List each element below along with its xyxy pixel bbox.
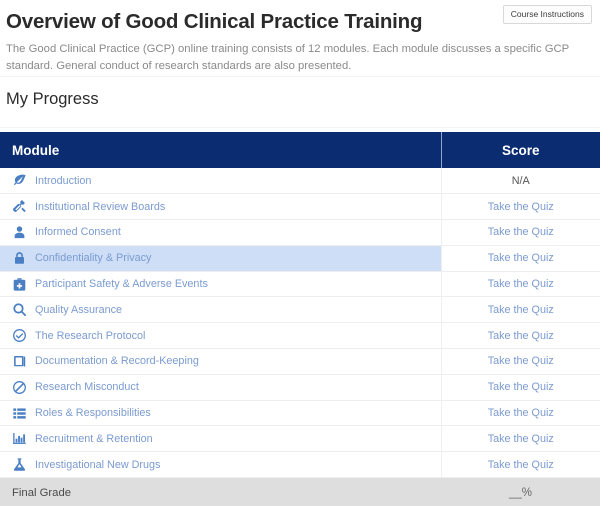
take-the-quiz-link[interactable]: Take the Quiz: [488, 355, 554, 367]
take-the-quiz-link[interactable]: Take the Quiz: [488, 459, 554, 471]
module-cell-inner: Investigational New Drugs: [12, 452, 441, 477]
course-instructions-container: Course Instructions: [503, 4, 592, 24]
take-the-quiz-link[interactable]: Take the Quiz: [488, 381, 554, 393]
lock-icon: [12, 251, 27, 266]
module-cell-inner: Documentation & Record-Keeping: [12, 349, 441, 374]
progress-table-head: Module Score: [0, 132, 600, 168]
module-cell: Confidentiality & Privacy: [0, 245, 441, 271]
take-the-quiz-link[interactable]: Take the Quiz: [488, 304, 554, 316]
table-row: Documentation & Record-KeepingTake the Q…: [0, 349, 600, 375]
module-cell: Introduction: [0, 168, 441, 194]
score-cell: Take the Quiz: [441, 374, 600, 400]
module-cell-inner: Quality Assurance: [12, 297, 441, 322]
section-title-my-progress: My Progress: [6, 90, 99, 109]
score-cell: Take the Quiz: [441, 220, 600, 246]
take-the-quiz-link[interactable]: Take the Quiz: [488, 278, 554, 290]
table-row: Investigational New DrugsTake the Quiz: [0, 452, 600, 478]
check-circle-icon: [12, 328, 27, 343]
module-cell-inner: Research Misconduct: [12, 375, 441, 400]
divider-below-progress: [0, 127, 600, 128]
score-cell: N/A: [441, 168, 600, 194]
score-cell: Take the Quiz: [441, 271, 600, 297]
take-the-quiz-link[interactable]: Take the Quiz: [488, 201, 554, 213]
leaf-icon: [12, 173, 27, 188]
table-row: Participant Safety & Adverse EventsTake …: [0, 271, 600, 297]
score-cell: Take the Quiz: [441, 194, 600, 220]
module-cell-inner: Institutional Review Boards: [12, 194, 441, 219]
score-cell: Take the Quiz: [441, 349, 600, 375]
module-cell-inner: The Research Protocol: [12, 323, 441, 348]
person-icon: [12, 225, 27, 240]
module-cell: Research Misconduct: [0, 374, 441, 400]
module-link[interactable]: Documentation & Record-Keeping: [35, 355, 199, 367]
module-link[interactable]: Introduction: [35, 175, 91, 187]
module-link[interactable]: Informed Consent: [35, 226, 121, 238]
ban-circle-icon: [12, 380, 27, 395]
module-cell: Informed Consent: [0, 220, 441, 246]
book-icon: [12, 354, 27, 369]
list-icon: [12, 406, 27, 421]
module-cell: Participant Safety & Adverse Events: [0, 271, 441, 297]
final-grade-value: __%: [441, 478, 600, 506]
table-header-row: Module Score: [0, 132, 600, 168]
module-cell: Institutional Review Boards: [0, 194, 441, 220]
take-the-quiz-link[interactable]: Take the Quiz: [488, 433, 554, 445]
first-aid-kit-icon: [12, 277, 27, 292]
score-cell: Take the Quiz: [441, 323, 600, 349]
table-row: Institutional Review BoardsTake the Quiz: [0, 194, 600, 220]
module-cell: Investigational New Drugs: [0, 452, 441, 478]
module-cell: Roles & Responsibilities: [0, 400, 441, 426]
table-row: Quality AssuranceTake the Quiz: [0, 297, 600, 323]
module-link[interactable]: Confidentiality & Privacy: [35, 252, 151, 264]
module-link[interactable]: Participant Safety & Adverse Events: [35, 278, 208, 290]
score-cell: Take the Quiz: [441, 452, 600, 478]
module-cell: Recruitment & Retention: [0, 426, 441, 452]
bar-chart-icon: [12, 431, 27, 446]
table-row: Roles & ResponsibilitiesTake the Quiz: [0, 400, 600, 426]
module-cell: Quality Assurance: [0, 297, 441, 323]
take-the-quiz-link[interactable]: Take the Quiz: [488, 226, 554, 238]
progress-table-body: IntroductionN/AInstitutional Review Boar…: [0, 168, 600, 478]
final-grade-label: Final Grade: [0, 478, 441, 506]
module-cell: The Research Protocol: [0, 323, 441, 349]
progress-table-foot: Final Grade __%: [0, 478, 600, 506]
table-row: Confidentiality & PrivacyTake the Quiz: [0, 245, 600, 271]
module-cell-inner: Participant Safety & Adverse Events: [12, 272, 441, 297]
module-link[interactable]: The Research Protocol: [35, 330, 145, 342]
module-cell-inner: Introduction: [12, 168, 441, 193]
score-cell: Take the Quiz: [441, 426, 600, 452]
column-header-score: Score: [441, 132, 600, 168]
module-link[interactable]: Research Misconduct: [35, 381, 139, 393]
score-cell: Take the Quiz: [441, 400, 600, 426]
score-value: N/A: [512, 175, 530, 187]
module-cell-inner: Informed Consent: [12, 220, 441, 245]
magnifier-icon: [12, 302, 27, 317]
course-instructions-button[interactable]: Course Instructions: [503, 5, 592, 24]
table-row: Informed ConsentTake the Quiz: [0, 220, 600, 246]
divider-above-progress: [0, 76, 600, 77]
module-link[interactable]: Investigational New Drugs: [35, 459, 160, 471]
flask-icon: [12, 457, 27, 472]
table-row: The Research ProtocolTake the Quiz: [0, 323, 600, 349]
module-link[interactable]: Institutional Review Boards: [35, 201, 165, 213]
score-cell: Take the Quiz: [441, 245, 600, 271]
module-link[interactable]: Roles & Responsibilities: [35, 407, 151, 419]
page-description: The Good Clinical Practice (GCP) online …: [6, 41, 586, 75]
final-grade-row: Final Grade __%: [0, 478, 600, 506]
course-overview-page: Course Instructions Overview of Good Cli…: [0, 0, 600, 506]
module-link[interactable]: Quality Assurance: [35, 304, 122, 316]
module-cell-inner: Confidentiality & Privacy: [12, 246, 441, 271]
take-the-quiz-link[interactable]: Take the Quiz: [488, 252, 554, 264]
gavel-icon: [12, 199, 27, 214]
module-cell-inner: Recruitment & Retention: [12, 426, 441, 451]
module-cell-inner: Roles & Responsibilities: [12, 401, 441, 426]
table-row: Recruitment & RetentionTake the Quiz: [0, 426, 600, 452]
take-the-quiz-link[interactable]: Take the Quiz: [488, 330, 554, 342]
table-row: Research MisconductTake the Quiz: [0, 374, 600, 400]
take-the-quiz-link[interactable]: Take the Quiz: [488, 407, 554, 419]
score-cell: Take the Quiz: [441, 297, 600, 323]
progress-table: Module Score IntroductionN/AInstitutiona…: [0, 132, 600, 506]
module-link[interactable]: Recruitment & Retention: [35, 433, 153, 445]
module-cell: Documentation & Record-Keeping: [0, 349, 441, 375]
column-header-module: Module: [0, 132, 441, 168]
table-row: IntroductionN/A: [0, 168, 600, 194]
